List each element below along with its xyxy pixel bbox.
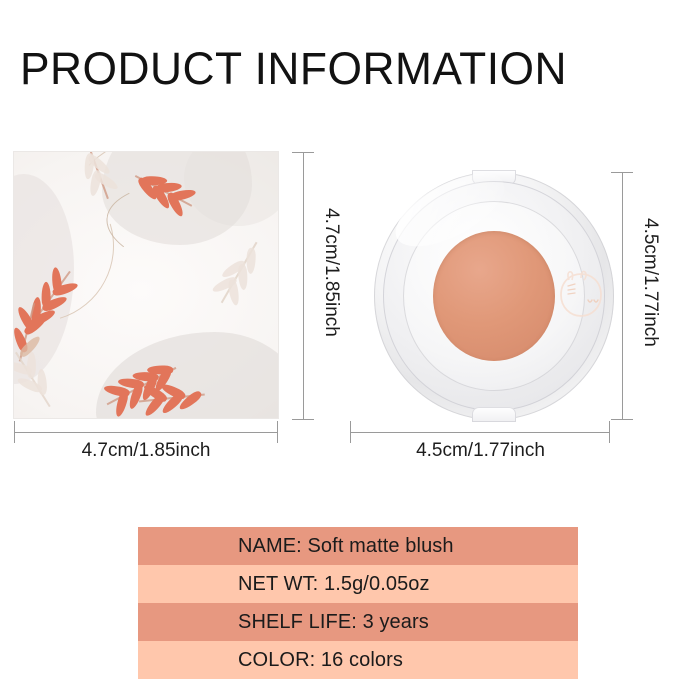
product-image-compact-case	[14, 152, 278, 418]
pan-base-notch	[472, 407, 516, 422]
dimension-width-compact-label: 4.7cm/1.85inch	[14, 440, 278, 462]
compact-case-icon	[14, 152, 278, 418]
spec-row-shelf-life: SHELF LIFE: 3 years	[138, 603, 578, 641]
spec-row-name: NAME: Soft matte blush	[138, 527, 578, 565]
blush-pan-icon	[374, 172, 614, 420]
dimension-height-compact-label: 4.7cm/1.85inch	[320, 208, 342, 368]
dimension-height-blush-pan-label: 4.5cm/1.77inch	[639, 218, 661, 378]
page-title: PRODUCT INFORMATION	[20, 43, 567, 95]
spec-row-net-wt: NET WT: 1.5g/0.05oz	[138, 565, 578, 603]
product-image-blush-pan	[374, 172, 614, 420]
pan-inner-ring	[383, 181, 605, 411]
spec-row-color: COLOR: 16 colors	[138, 641, 578, 679]
pan-inner-ring-2	[403, 201, 585, 391]
product-spec-table: NAME: Soft matte blush NET WT: 1.5g/0.05…	[138, 527, 578, 679]
dimension-width-blush-pan-label: 4.5cm/1.77inch	[350, 440, 611, 462]
blush-powder-surface	[433, 231, 555, 361]
cat-face-emboss-icon	[551, 267, 611, 321]
